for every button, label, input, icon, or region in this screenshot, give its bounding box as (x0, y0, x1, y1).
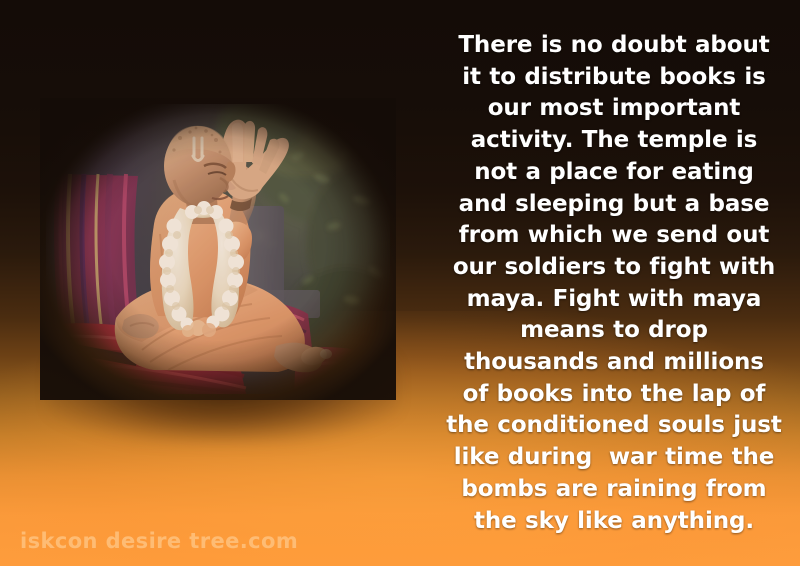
quote-line: maya. Fight with maya (430, 284, 798, 316)
quote-line: There is no doubt about (430, 30, 798, 62)
quote-line: not a place for eating (430, 157, 798, 189)
quote-line: means to drop (430, 315, 798, 347)
quote-line: bombs are raining from (430, 474, 798, 506)
quote-line: thousands and millions (430, 347, 798, 379)
quote-line: activity. The temple is (430, 125, 798, 157)
quote-line: our most important (430, 93, 798, 125)
quote-line: the conditioned souls just (430, 410, 798, 442)
prabhupada-photo (40, 98, 396, 400)
quote-line: and sleeping but a base (430, 189, 798, 221)
quote-line: the sky like anything. (430, 506, 798, 538)
quote-line: like during war time the (430, 442, 798, 474)
quote-line: it to distribute books is (430, 62, 798, 94)
quote-line: of books into the lap of (430, 379, 798, 411)
photo-image (46, 104, 390, 394)
quote-text: There is no doubt about it to distribute… (430, 30, 798, 537)
watermark: iskcon desire tree.com (20, 529, 298, 553)
quote-line: from which we send out (430, 220, 798, 252)
quote-line: our soldiers to fight with (430, 252, 798, 284)
quote-poster: There is no doubt about it to distribute… (0, 0, 800, 566)
photo-illustration (46, 104, 390, 394)
